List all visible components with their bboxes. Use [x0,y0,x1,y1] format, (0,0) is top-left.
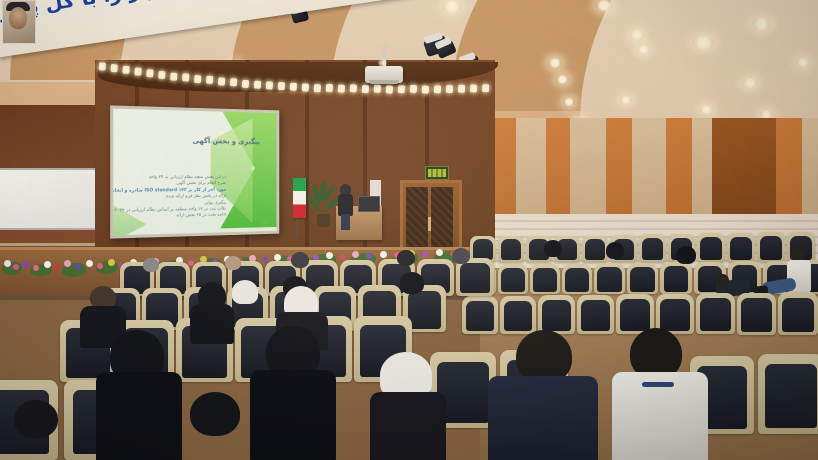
ceiling-band [580,0,818,124]
audience-member [232,280,258,304]
laptop-on-podium [358,196,380,212]
presenter-body [338,194,353,216]
ceiling-downlight [556,75,569,84]
ceiling-downlight [620,96,632,104]
ceiling-downlight [548,58,562,68]
puffer-jacket [488,376,598,460]
audience-member [676,246,696,264]
seat[interactable] [562,264,592,294]
slide-bullet-list: در این بخش نتیجه نظام ارزیابی به ۲۴ واحد… [113,175,263,222]
audience-member [176,392,254,460]
seat[interactable] [778,292,818,335]
ceiling-downlight [630,30,644,40]
ceiling-downlight [700,105,713,114]
audience-member [606,242,624,259]
audience-member [96,330,182,460]
seat[interactable] [582,236,608,262]
presenter-legs [341,214,350,230]
seat[interactable] [538,295,575,334]
audience-member [400,272,424,294]
audience-member [291,252,309,268]
seat[interactable] [758,354,818,434]
seat[interactable] [577,295,614,334]
presenter [338,184,353,230]
seat[interactable] [660,262,692,294]
slide-bullet: ادامه بحث در ۲۵ بخش ارائه [113,213,226,222]
seat[interactable] [697,233,725,262]
audience-member [544,240,562,257]
ceiling-downlight [637,45,650,54]
seat[interactable] [737,293,776,335]
audience-member [190,282,234,340]
white-hijab [232,280,258,304]
auditorium-photo: مهندسان گرامی و مدعوین عزیز را با گل پذی… [0,0,818,460]
seat[interactable] [498,236,524,262]
audience-member [225,256,241,270]
ceiling-downlight [595,0,613,11]
audience-member [0,400,70,460]
projection-screen: پیگیری و بخش آگهی در این بخش نتیجه نظام … [113,109,276,236]
ceiling-projector [365,66,403,83]
audience-member [143,258,159,272]
ceiling-downlight [563,98,575,106]
audience-member [370,352,446,460]
seat[interactable] [530,264,560,294]
seat[interactable] [639,234,666,262]
slide-title: پیگیری و بخش آگهی [192,137,259,146]
seat[interactable] [462,296,498,334]
audience-member [397,250,415,266]
seat[interactable] [727,233,755,262]
ceiling-downlight [796,58,810,67]
ceiling-downlight [752,18,771,30]
exit-sign [425,166,449,180]
audience-member [612,328,708,460]
audience-member [250,326,336,460]
portrait-face [9,7,27,29]
official-portrait [2,0,36,44]
ceiling-downlight [692,36,715,49]
seat[interactable] [594,263,625,294]
seat[interactable] [627,263,658,294]
slide-logo [262,219,269,227]
potted-plant [310,180,336,228]
ceiling-downlight [442,0,462,13]
seat[interactable] [500,296,536,334]
ceiling-downlight [742,78,758,88]
iran-flag [293,178,306,218]
audience-member [452,248,470,264]
audience-member [488,330,598,460]
projection-screen-frame: پیگیری و بخش آگهی در این بخش نتیجه نظام … [110,105,279,238]
lanyard [642,382,674,387]
door-handle[interactable] [428,217,431,231]
projector-lamp-glow [378,59,387,67]
seat[interactable] [498,264,528,294]
